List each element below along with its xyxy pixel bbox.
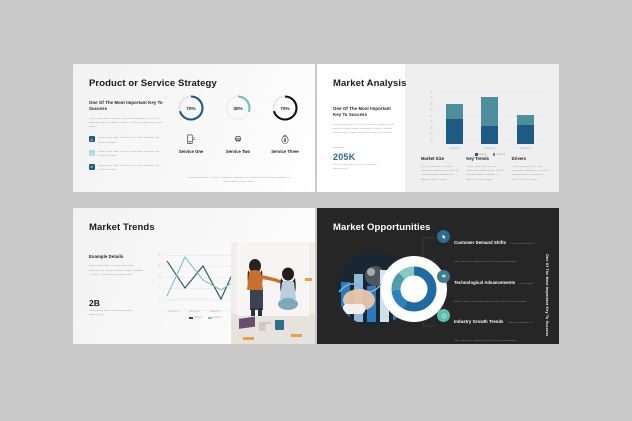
whiteboard-photo: [231, 242, 315, 344]
column-drivers: Drivers Lorem ipsum dolor sit amet conse…: [512, 156, 549, 182]
column-heading: Market Size: [421, 156, 458, 161]
check-icon: [89, 164, 95, 170]
slide3-left-column: Example Details Lorem ipsum dolor sit am…: [89, 254, 147, 277]
slide1-body-text: Lorem ipsum dolor sit amet, consectetur …: [89, 117, 163, 130]
service-name: Service One: [179, 149, 203, 155]
x-tick-label: Category 1: [168, 311, 179, 313]
volume-icon: [437, 270, 450, 283]
item-body: Lorem ipsum dolor sit amet consectetur a…: [454, 283, 534, 303]
settings-gear-icon: [233, 133, 243, 145]
stat-caption: Lorem ipsum dolor sit amet consectetur a…: [89, 309, 141, 317]
bar-segment-series2: [446, 104, 463, 119]
progress-ring-70-navy: 70%: [177, 94, 205, 122]
column-body: Lorem ipsum dolor sit amet consectetur a…: [512, 165, 549, 182]
x-tick-label: Category 2: [189, 311, 200, 313]
slide1-left-column: One Of The Most Important Key To Success…: [89, 100, 165, 178]
cursor-click-icon: [437, 230, 450, 243]
list-item[interactable]: Industry Growth Trends Lorem ipsum dolor…: [437, 309, 535, 344]
service-name: Service Two: [226, 149, 250, 155]
slide-market-opportunities[interactable]: Market Opportunities: [317, 208, 559, 344]
column-body: Lorem ipsum dolor sit amet consectetur a…: [421, 165, 458, 182]
line-series-1: [167, 255, 241, 299]
page-title: Market Opportunities: [333, 222, 431, 233]
bar-segment-series2: [517, 115, 534, 125]
check-icon: [89, 136, 95, 142]
slide2-left-column: One Of The Most Important Key To Success…: [333, 106, 395, 135]
item-title: Technological Advancements: [454, 280, 515, 285]
slide-deck-canvas: Product or Service Strategy One Of The M…: [0, 0, 632, 421]
slide3-body-text: Lorem ipsum dolor sit amet, consectetur …: [89, 264, 145, 277]
progress-value: 70%: [271, 94, 299, 122]
item-title: Industry Growth Trends: [454, 319, 503, 324]
bar-segment-series1: [446, 119, 463, 144]
slide3-subhead: Example Details: [89, 254, 147, 260]
progress-value: 30%: [224, 94, 252, 122]
mobile-phone-icon: [186, 133, 196, 145]
legend-entry: Series 2: [208, 317, 222, 319]
legend-label: Series 1: [194, 317, 202, 319]
bar-category-1: [446, 90, 463, 144]
stat-value: 205K: [333, 152, 355, 162]
item-title: Customer Demand Shifts: [454, 240, 506, 245]
list-item-label: Lorem ipsum dolor sit amet, consectetur …: [98, 164, 160, 172]
bar-segment-series1: [481, 126, 498, 144]
bar-series-group: [437, 90, 543, 144]
service-two-block: 30% Service Two: [218, 94, 258, 155]
donut-chart-group: [337, 244, 453, 334]
progress-ring-30-teal: 30%: [224, 94, 252, 122]
slide-product-or-service-strategy[interactable]: Product or Service Strategy One Of The M…: [73, 64, 315, 192]
x-tick-label: Category 3: [517, 148, 534, 150]
bar-chart: 90 80 70 60 50 40 30 20 10 0: [425, 90, 545, 152]
column-body: Lorem ipsum dolor sit amet consectetur a…: [466, 165, 503, 182]
bar-x-axis-labels: Category 1 Category 2 Category 3: [437, 148, 543, 150]
service-name: Service Three: [271, 149, 298, 155]
list-item: Lorem ipsum dolor sit amet, consectetur …: [89, 136, 165, 144]
slide2-body-text: Lorem ipsum dolor sit amet, consectetur …: [333, 123, 395, 136]
line-series-2: [167, 257, 241, 296]
legend-entry: Series 1: [189, 317, 203, 319]
slide-market-analysis[interactable]: Market Analysis One Of The Most Importan…: [317, 64, 559, 192]
slide2-column-descriptions: Market Size Lorem ipsum dolor sit amet c…: [421, 156, 549, 182]
slide1-footnote: Lorem ipsum dolor sit amet, consectetur …: [185, 176, 293, 184]
bar-segment-series1: [517, 125, 534, 144]
page-title: Market Trends: [89, 222, 155, 233]
service-one-block: 70% Service One: [171, 94, 211, 155]
column-heading: Drivers: [512, 156, 549, 161]
list-item[interactable]: Customer Demand Shifts Lorem ipsum dolor…: [437, 230, 535, 267]
slide1-progress-rings: 70% Service One: [171, 94, 305, 155]
x-tick-label: Category 1: [446, 148, 463, 150]
column-market-size: Market Size Lorem ipsum dolor sit amet c…: [421, 156, 458, 182]
slide4-vertical-text: One Of The Most Important Key To Success: [543, 254, 549, 337]
bar-category-3: [517, 90, 534, 144]
progress-ring-70-black: 70%: [271, 94, 299, 122]
clock-icon: [437, 309, 450, 322]
x-tick-label: Category 3: [210, 311, 221, 313]
list-item[interactable]: Technological Advancements Lorem ipsum d…: [437, 270, 535, 307]
slide2-subhead: One Of The Most Important Key To Success: [333, 106, 395, 119]
stat-value: 2B: [89, 298, 100, 308]
list-item: Lorem ipsum dolor sit amet, consectetur …: [89, 164, 165, 172]
service-three-block: 70% Service Three: [265, 94, 305, 155]
legend-label: Series 2: [213, 317, 221, 319]
slide-market-trends[interactable]: Market Trends Example Details Lorem ipsu…: [73, 208, 315, 344]
money-bag-icon: [280, 133, 290, 145]
list-item-label: Lorem ipsum dolor sit amet, consectetur …: [98, 150, 160, 158]
progress-value: 70%: [177, 94, 205, 122]
slide1-checklist: Lorem ipsum dolor sit amet, consectetur …: [89, 136, 165, 172]
item-body: Lorem ipsum dolor sit amet consectetur a…: [454, 243, 535, 263]
opportunity-list: Customer Demand Shifts Lorem ipsum dolor…: [437, 230, 535, 344]
column-key-trends: Key Trends Lorem ipsum dolor sit amet co…: [466, 156, 503, 182]
page-title: Product or Service Strategy: [89, 78, 217, 89]
page-title: Market Analysis: [333, 78, 407, 89]
x-tick-label: Category 2: [481, 148, 498, 150]
item-body: Lorem ipsum dolor sit amet consectetur a…: [454, 322, 532, 342]
bar-category-2: [481, 90, 498, 144]
list-item: Lorem ipsum dolor sit amet, consectetur …: [89, 150, 165, 158]
column-heading: Key Trends: [466, 156, 503, 161]
bar-segment-series2: [481, 97, 498, 126]
list-item-label: Lorem ipsum dolor sit amet, consectetur …: [98, 136, 160, 144]
divider: [333, 147, 344, 148]
slide1-subhead: One Of The Most Important Key To Success: [89, 100, 165, 113]
check-icon: [89, 150, 95, 156]
stat-caption: Lorem ipsum dolor sit amet consectetur a…: [333, 163, 383, 171]
